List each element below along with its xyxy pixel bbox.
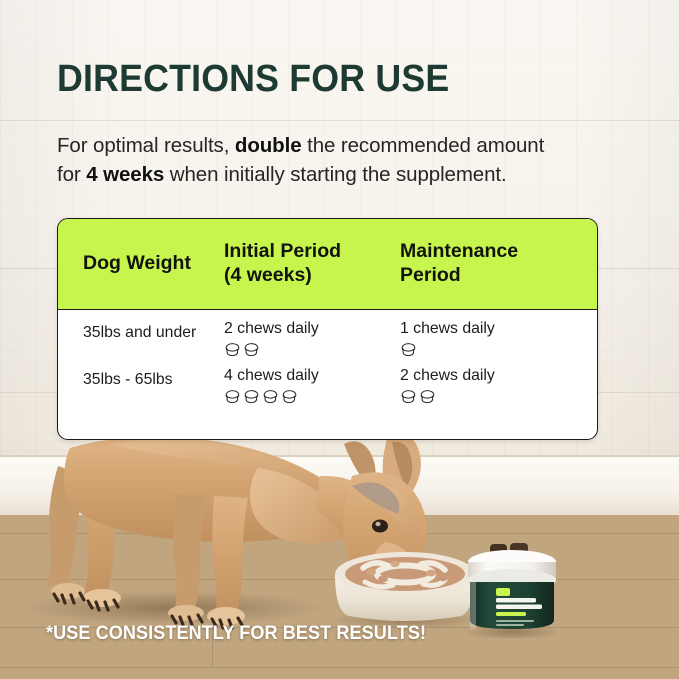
- cell-maintenance-dose: 1 chews daily: [400, 319, 597, 357]
- column-header-dog-weight: Dog Weight: [58, 252, 224, 276]
- chew-icon-group: [224, 342, 400, 357]
- cell-initial-dose: 2 chews daily: [224, 319, 400, 357]
- table-row: 35lbs - 65lbs 4 chews daily 2 chews dail…: [58, 366, 597, 413]
- column-header-maintenance-period: MaintenancePeriod: [400, 240, 597, 288]
- subtitle-line1-part1: For optimal results,: [57, 134, 235, 157]
- table-row: 35lbs and under 2 chews daily 1 chews da…: [58, 319, 597, 366]
- cell-dog-weight: 35lbs - 65lbs: [58, 366, 224, 390]
- subtitle-line1-part3: the recommended amount: [302, 134, 545, 157]
- subtitle-line2-part1: for: [57, 163, 86, 186]
- page-title: DIRECTIONS FOR USE: [57, 60, 449, 100]
- maintenance-dose-text: 1 chews daily: [400, 319, 597, 339]
- supplement-jar: [458, 540, 566, 638]
- wall-seam: [0, 120, 679, 121]
- initial-dose-text: 4 chews daily: [224, 366, 400, 386]
- subtitle-line2-part3: when initially starting the supplement.: [164, 163, 506, 186]
- cell-dog-weight: 35lbs and under: [58, 319, 224, 343]
- dosage-table-card: Dog Weight Initial Period(4 weeks) Maint…: [57, 218, 598, 440]
- subtitle-emphasis-weeks: 4 weeks: [86, 163, 164, 186]
- subtitle-text: For optimal results, double the recommen…: [57, 131, 637, 189]
- chew-icon-group: [400, 389, 597, 404]
- maintenance-dose-text: 2 chews daily: [400, 366, 597, 386]
- column-header-initial-period: Initial Period(4 weeks): [224, 240, 400, 288]
- subtitle-emphasis-double: double: [235, 134, 302, 157]
- cell-maintenance-dose: 2 chews daily: [400, 366, 597, 404]
- initial-dose-text: 2 chews daily: [224, 319, 400, 339]
- footer-disclaimer: *USE CONSISTENTLY FOR BEST RESULTS!: [46, 623, 426, 645]
- cell-initial-dose: 4 chews daily: [224, 366, 400, 404]
- table-body: 35lbs and under 2 chews daily 1 chews da…: [58, 310, 597, 413]
- table-header-row: Dog Weight Initial Period(4 weeks) Maint…: [58, 219, 597, 310]
- chew-icon-group: [224, 389, 400, 404]
- chew-icon-group: [400, 342, 597, 357]
